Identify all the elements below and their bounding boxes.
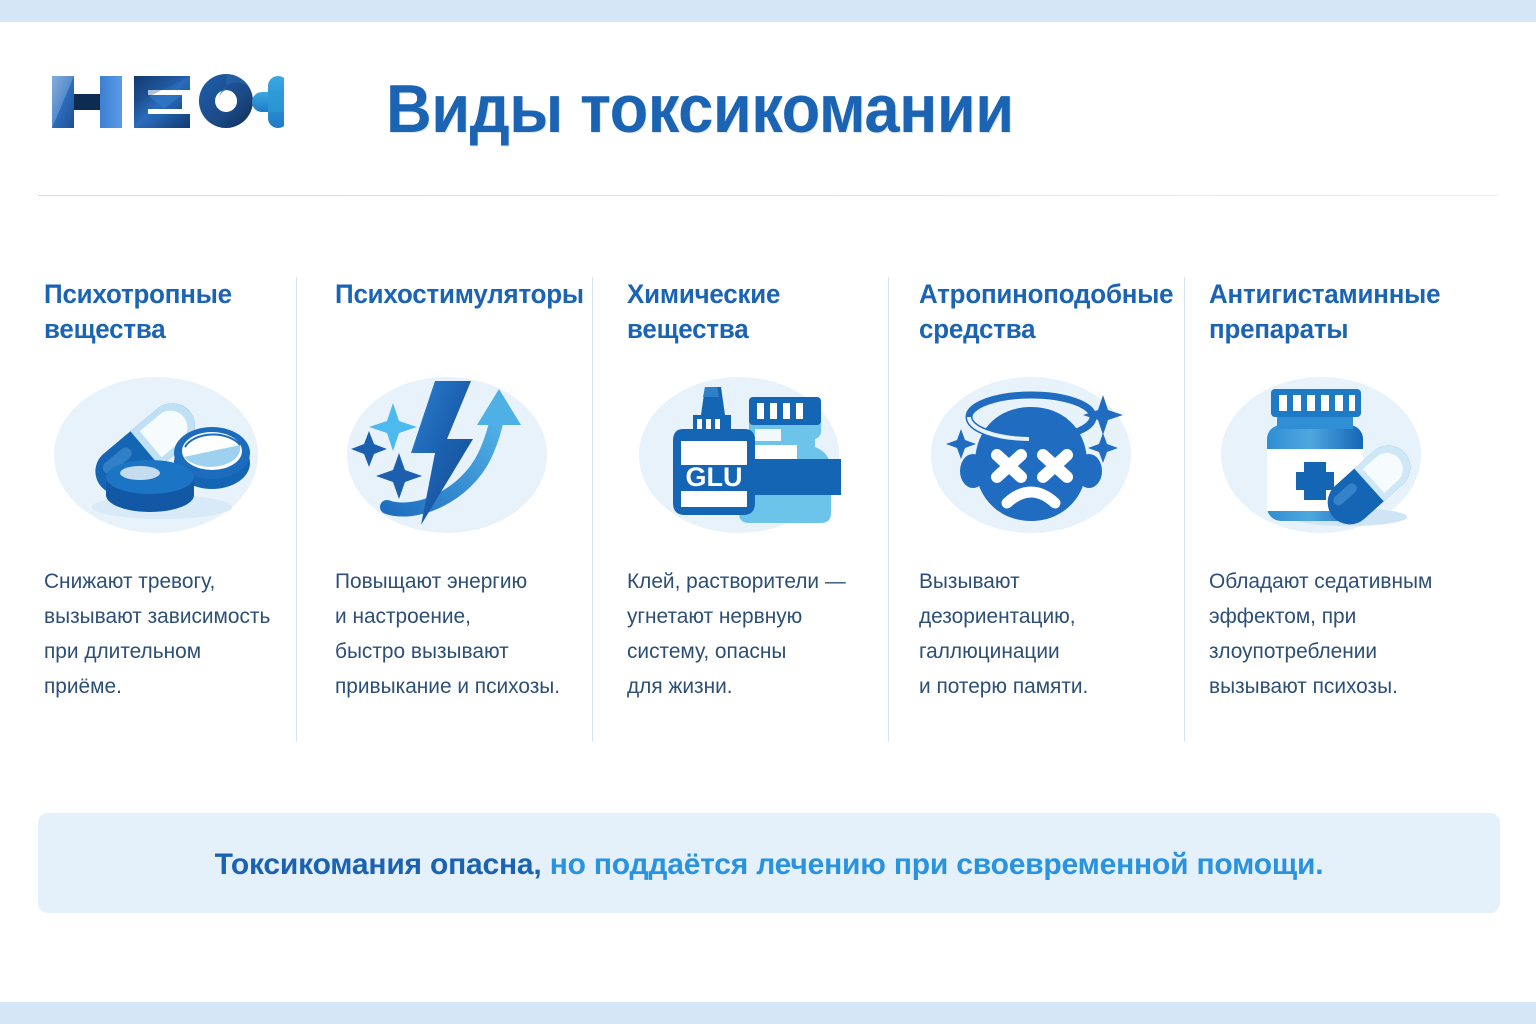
glue-label: GLU	[686, 462, 743, 492]
category-description: Повыщают энергию и настроение, быстро вы…	[335, 564, 571, 704]
dizzy-face-icon	[919, 367, 1149, 542]
lightning-bolt-arrow-sparkles-icon	[335, 367, 565, 542]
page-header: Виды токсикомании	[0, 22, 1536, 187]
category-column-atropine-like: Атропиноподобные средства	[888, 277, 1184, 742]
pills-capsule-tablets-icon	[44, 367, 274, 542]
category-description: Клей, растворители — угнетают нервную си…	[627, 564, 867, 704]
category-columns: Психотропные вещества	[0, 277, 1536, 742]
category-column-antihistamines: Антигистаминные препараты	[1184, 277, 1480, 742]
footer-banner: Токсикомания опасна, но поддаётся лечени…	[38, 813, 1500, 913]
neo-plus-logo	[44, 64, 284, 140]
category-title: Антигистаминные препараты	[1209, 277, 1456, 351]
category-column-psychostimulants: Психостимуляторы	[296, 277, 592, 742]
category-title: Психотропные вещества	[44, 277, 272, 351]
category-column-chemicals: Химические вещества	[592, 277, 888, 742]
page-title: Виды токсикомании	[386, 70, 1014, 148]
top-accent-band	[0, 0, 1536, 22]
header-divider	[38, 195, 1498, 196]
category-description: Обладают седативным эффектом, при злоупо…	[1209, 564, 1458, 704]
category-column-psychotropic: Психотропные вещества	[0, 277, 296, 742]
medicine-bottle-capsule-icon	[1209, 367, 1439, 542]
category-description: Вызывают дезориентацию, галлюцинации и п…	[919, 564, 1162, 704]
category-description: Снижают тревогу, вызывают зависимость пр…	[44, 564, 275, 704]
category-title: Психостимуляторы	[335, 277, 568, 351]
category-title: Химические вещества	[627, 277, 864, 351]
footer-message: Токсикомания опасна, но поддаётся лечени…	[38, 848, 1500, 882]
glue-bottle-solvent-icon: GLU	[627, 367, 857, 542]
category-title: Атропиноподобные средства	[919, 277, 1160, 351]
footer-message-strong: Токсикомания опасна,	[215, 848, 542, 881]
bottom-accent-band	[0, 1002, 1536, 1024]
footer-message-rest: но поддаётся лечению при своевременной п…	[542, 848, 1324, 881]
